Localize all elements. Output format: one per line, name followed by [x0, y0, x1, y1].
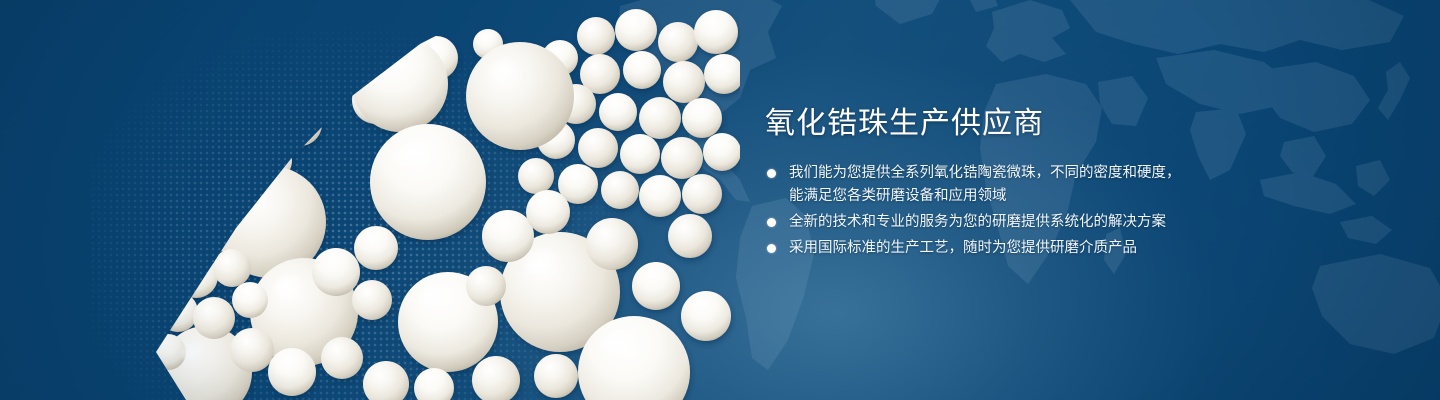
bullet-dot-icon	[767, 218, 776, 227]
feature-list: 我们能为您提供全系列氧化锆陶瓷微珠，不同的密度和硬度， 能满足您各类研磨设备和应…	[765, 162, 1325, 260]
list-item: 采用国际标准的生产工艺，随时为您提供研磨介质产品	[765, 237, 1325, 260]
bullet-dot-icon	[767, 244, 776, 253]
list-item-line-2: 能满足您各类研磨设备和应用领域	[789, 185, 1325, 208]
banner-copy: 氧化锆珠生产供应商 我们能为您提供全系列氧化锆陶瓷微珠，不同的密度和硬度， 能满…	[765, 104, 1325, 263]
list-item-line-1: 我们能为您提供全系列氧化锆陶瓷微珠，不同的密度和硬度，	[789, 165, 1181, 181]
page-title: 氧化锆珠生产供应商	[765, 104, 1325, 144]
bullet-dot-icon	[767, 169, 776, 178]
hero-banner: 氧化锆珠生产供应商 我们能为您提供全系列氧化锆陶瓷微珠，不同的密度和硬度， 能满…	[0, 0, 1440, 400]
list-item-line-1: 全新的技术和专业的服务为您的研磨提供系统化的解决方案	[789, 214, 1166, 230]
list-item: 我们能为您提供全系列氧化锆陶瓷微珠，不同的密度和硬度， 能满足您各类研磨设备和应…	[765, 162, 1325, 208]
list-item-line-1: 采用国际标准的生产工艺，随时为您提供研磨介质产品	[789, 240, 1137, 256]
list-item: 全新的技术和专业的服务为您的研磨提供系统化的解决方案	[765, 211, 1325, 234]
